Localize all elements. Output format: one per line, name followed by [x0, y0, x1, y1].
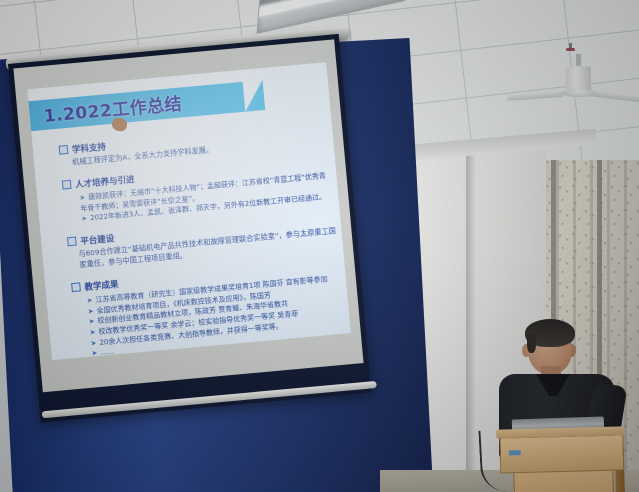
projection-screen: 1.2022工作总结 学科支持 机械工程评定为A，全系大力支持学科发展。 人才培…: [8, 34, 371, 423]
fire-sprinkler-icon: [566, 43, 575, 52]
arrow-bullet-icon: ➤: [90, 339, 97, 347]
screen-surface: 1.2022工作总结 学科支持 机械工程评定为A，全系大力支持学科发展。 人才培…: [13, 39, 363, 392]
arrow-bullet-icon: ➤: [81, 215, 88, 223]
section-marker-icon: [59, 145, 69, 155]
arrow-bullet-icon: ➤: [91, 349, 98, 357]
podium: [496, 426, 626, 492]
podium-badge: [509, 450, 521, 455]
projected-slide: 1.2022工作总结 学科支持 机械工程评定为A，全系大力支持学科发展。 人才培…: [27, 62, 350, 360]
arrow-bullet-icon: ➤: [86, 296, 93, 304]
arrow-bullet-icon: ➤: [88, 317, 95, 325]
lecture-room-photo: 1.2022工作总结 学科支持 机械工程评定为A，全系大力支持学科发展。 人才培…: [0, 0, 639, 492]
section-marker-icon: [71, 282, 81, 292]
wall-shadow: [466, 150, 476, 492]
presenter-hair: [525, 319, 575, 347]
section-marker-icon: [62, 180, 72, 190]
arrow-bullet-icon: ➤: [79, 194, 86, 202]
slide-section: 教学成果 ➤江苏省高等教育（研究生）国家级教学成果奖培育1项 陈国芬 宫有影等参…: [71, 257, 351, 360]
ceiling-fan: [559, 54, 599, 102]
section-marker-icon: [67, 237, 77, 247]
podium-front-panel: [499, 434, 624, 473]
arrow-bullet-icon: ➤: [87, 307, 94, 315]
arrow-bullet-icon: ➤: [89, 328, 96, 336]
